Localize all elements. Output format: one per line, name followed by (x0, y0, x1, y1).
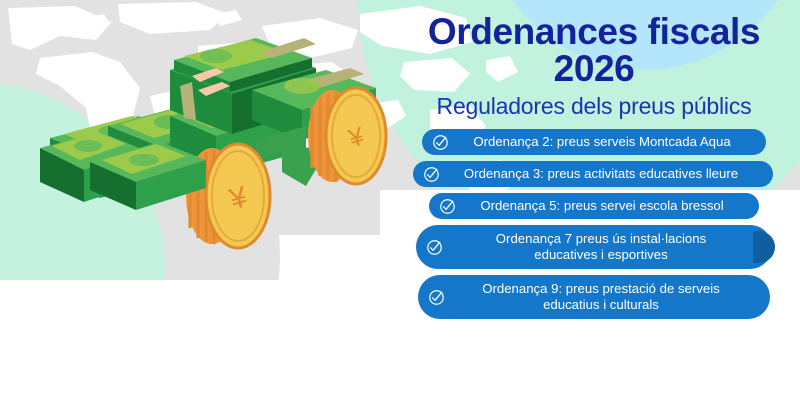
content-column: Ordenances fiscals 2026 Reguladores dels… (388, 0, 800, 400)
check-circle-icon (426, 239, 443, 256)
list-item[interactable]: Ordenança 5: preus servei escola bressol (429, 193, 759, 219)
list-item-label: Ordenança 9: preus prestació de serveis … (452, 281, 754, 314)
list-item-label: Ordenança 2: preus serveis Montcada Aqua (456, 134, 752, 151)
gold-coin-right: ¥ (308, 88, 386, 184)
list-item[interactable]: Ordenança 2: preus serveis Montcada Aqua (422, 129, 766, 155)
money-illustration: ¥ ¥ (20, 30, 400, 290)
page-title: Ordenances fiscals 2026 (388, 0, 800, 87)
page-title-line2: 2026 (554, 48, 635, 89)
check-circle-icon (423, 166, 440, 183)
check-circle-icon (432, 134, 449, 151)
page-title-line1: Ordenances fiscals (428, 11, 760, 52)
list-item[interactable]: Ordenança 9: preus prestació de serveis … (418, 275, 770, 319)
poster-root: ¥ ¥ (0, 0, 800, 400)
check-circle-icon (439, 198, 456, 215)
page-subtitle: Reguladores dels preus públics (388, 93, 800, 120)
ordinance-list: Ordenança 2: preus serveis Montcada Aqua… (388, 129, 800, 319)
list-item[interactable]: Ordenança 3: preus activitats educatives… (413, 161, 773, 187)
check-circle-icon (428, 289, 445, 306)
list-item-label: Ordenança 7 preus ús instal·lacions educ… (450, 231, 756, 264)
list-item-label: Ordenança 3: preus activitats educatives… (447, 166, 759, 183)
list-item-label: Ordenança 5: preus servei escola bressol (463, 198, 745, 215)
list-item[interactable]: Ordenança 7 preus ús instal·lacions educ… (416, 225, 772, 269)
